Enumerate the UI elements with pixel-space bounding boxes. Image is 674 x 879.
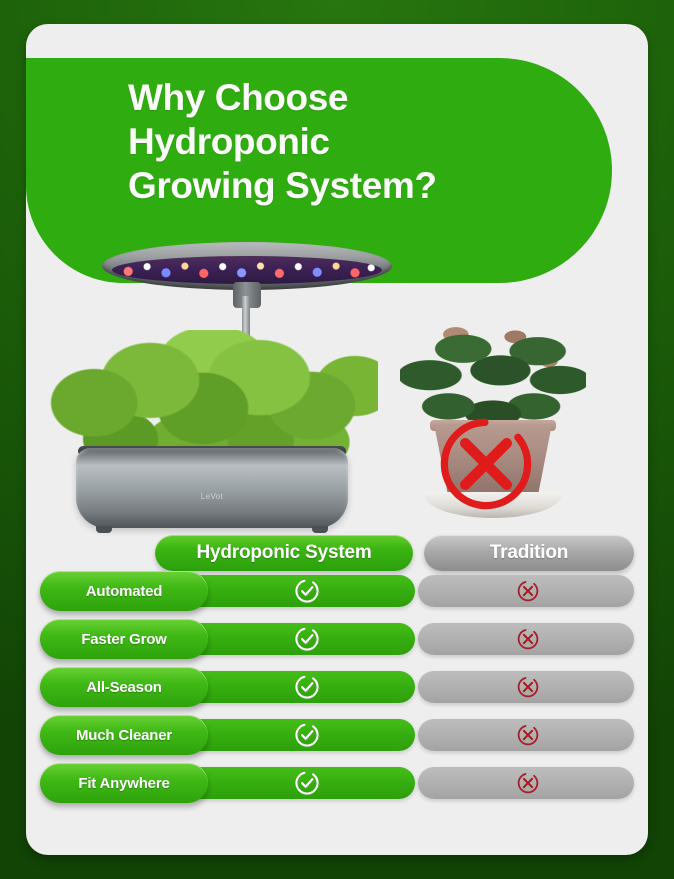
x-circle-icon <box>516 579 540 603</box>
comparison-table: Hydroponic System Tradition Automated <box>26 529 648 811</box>
column-header-hydroponic-label: Hydroponic System <box>196 542 371 564</box>
hydroponic-system-image: LeVot <box>48 330 378 550</box>
column-header-tradition-label: Tradition <box>490 542 568 564</box>
table-row: All-Season <box>26 667 648 715</box>
table-row: Much Cleaner <box>26 715 648 763</box>
row-label: Faster Grow <box>81 631 166 648</box>
traditional-plant-image <box>394 320 590 550</box>
check-circle-icon <box>294 722 320 748</box>
product-brand-mark: LeVot <box>76 492 348 501</box>
product-photo-area: LeVot <box>26 234 648 554</box>
check-circle-icon <box>294 578 320 604</box>
row-label-pill: All-Season <box>40 667 208 707</box>
check-circle-icon <box>294 674 320 700</box>
x-circle-icon <box>516 627 540 651</box>
row-label-pill: Automated <box>40 571 208 611</box>
row-label-pill: Much Cleaner <box>40 715 208 755</box>
row-label-pill: Fit Anywhere <box>40 763 208 803</box>
row-label: Automated <box>86 583 163 600</box>
x-circle-icon <box>516 771 540 795</box>
infographic-root: Why Choose Hydroponic Growing System? Le… <box>0 0 674 879</box>
title-line-2: Hydroponic <box>128 120 598 164</box>
led-array <box>112 256 382 284</box>
x-circle-icon <box>516 723 540 747</box>
column-header-tradition: Tradition <box>424 535 634 571</box>
title-line-1: Why Choose <box>128 77 348 118</box>
stainless-planter-base: LeVot <box>76 448 348 528</box>
row-label-pill: Faster Grow <box>40 619 208 659</box>
column-header-hydroponic: Hydroponic System <box>155 535 413 571</box>
table-row: Fit Anywhere <box>26 763 648 811</box>
check-circle-icon <box>294 626 320 652</box>
content-panel: Why Choose Hydroponic Growing System? Le… <box>26 24 648 855</box>
x-circle-icon <box>516 675 540 699</box>
red-x-overlay-icon <box>434 412 538 516</box>
comparison-header-row: Hydroponic System Tradition <box>26 529 648 571</box>
row-label: Fit Anywhere <box>78 775 169 792</box>
row-label: All-Season <box>86 679 162 696</box>
check-circle-icon <box>294 770 320 796</box>
table-row: Automated <box>26 571 648 619</box>
title-line-3: Growing System? <box>128 164 598 208</box>
table-row: Faster Grow <box>26 619 648 667</box>
page-title: Why Choose Hydroponic Growing System? <box>128 76 598 208</box>
row-label: Much Cleaner <box>76 727 172 744</box>
